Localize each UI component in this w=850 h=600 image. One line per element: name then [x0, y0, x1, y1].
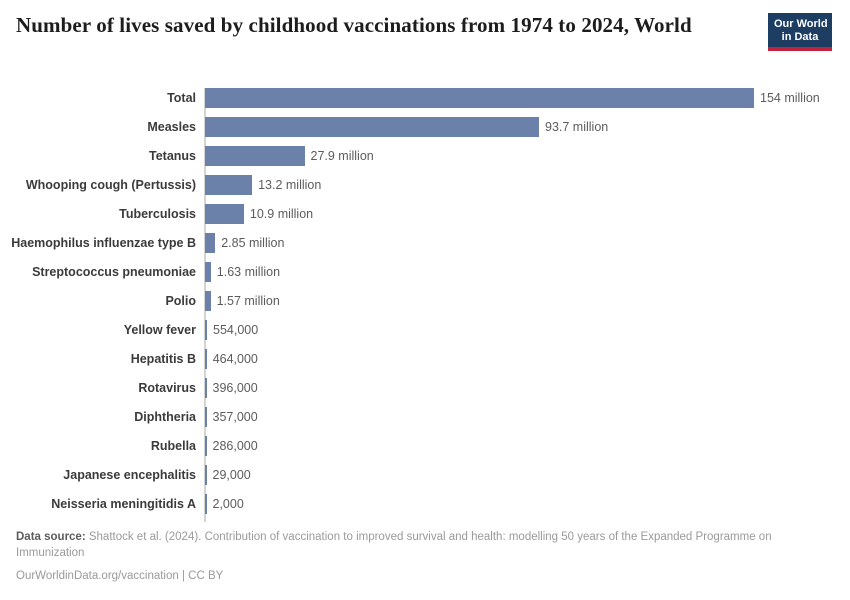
bar-rows: Total154 millionMeasles93.7 millionTetan…: [0, 88, 850, 523]
bar-category-label: Yellow fever: [124, 320, 196, 340]
bar-category-label: Polio: [165, 291, 196, 311]
bar[interactable]: [205, 378, 207, 398]
bar-row[interactable]: Streptococcus pneumoniae1.63 million: [0, 262, 850, 291]
bar-category-label: Measles: [147, 117, 196, 137]
bar-category-label: Japanese encephalitis: [63, 465, 196, 485]
bar-category-label: Tuberculosis: [119, 204, 196, 224]
bar[interactable]: [205, 233, 215, 253]
bar[interactable]: [205, 407, 207, 427]
chart-header: Number of lives saved by childhood vacci…: [0, 0, 850, 72]
bar-row[interactable]: Hepatitis B464,000: [0, 349, 850, 378]
bar[interactable]: [205, 204, 244, 224]
logo-line-1: Our World: [774, 18, 826, 31]
bar[interactable]: [205, 175, 252, 195]
bar-category-label: Rubella: [151, 436, 196, 456]
source-url-line[interactable]: OurWorldinData.org/vaccination | CC BY: [16, 569, 816, 585]
bar-category-label: Whooping cough (Pertussis): [26, 175, 196, 195]
bar-row[interactable]: Rubella286,000: [0, 436, 850, 465]
bar[interactable]: [205, 262, 211, 282]
bar[interactable]: [205, 436, 207, 456]
bar-value-label: 2,000: [213, 494, 244, 514]
bar-value-label: 464,000: [213, 349, 258, 369]
bar-value-label: 2.85 million: [221, 233, 284, 253]
bar-row[interactable]: Tuberculosis10.9 million: [0, 204, 850, 233]
bar-row[interactable]: Yellow fever554,000: [0, 320, 850, 349]
bar[interactable]: [205, 349, 207, 369]
bar-value-label: 357,000: [213, 407, 258, 427]
bar-value-label: 154 million: [760, 88, 820, 108]
bar-row[interactable]: Japanese encephalitis29,000: [0, 465, 850, 494]
bar-row[interactable]: Diphtheria357,000: [0, 407, 850, 436]
bar-value-label: 554,000: [213, 320, 258, 340]
logo-line-2: in Data: [774, 31, 826, 44]
page-title: Number of lives saved by childhood vacci…: [16, 12, 706, 38]
bar-value-label: 396,000: [213, 378, 258, 398]
bar-value-label: 1.63 million: [217, 262, 280, 282]
bar-row[interactable]: Tetanus27.9 million: [0, 146, 850, 175]
bar-value-label: 10.9 million: [250, 204, 313, 224]
bar-value-label: 286,000: [213, 436, 258, 456]
bar-category-label: Total: [167, 88, 196, 108]
bar-category-label: Streptococcus pneumoniae: [32, 262, 196, 282]
bar[interactable]: [205, 291, 211, 311]
bar-category-label: Tetanus: [149, 146, 196, 166]
bar-row[interactable]: Haemophilus influenzae type B2.85 millio…: [0, 233, 850, 262]
bar-value-label: 93.7 million: [545, 117, 608, 137]
bar[interactable]: [205, 88, 754, 108]
bar[interactable]: [205, 117, 539, 137]
owid-logo[interactable]: Our World in Data: [768, 13, 832, 51]
bar-row[interactable]: Total154 million: [0, 88, 850, 117]
bar-row[interactable]: Neisseria meningitidis A2,000: [0, 494, 850, 523]
bar-chart: Total154 millionMeasles93.7 millionTetan…: [0, 78, 850, 518]
bar-category-label: Neisseria meningitidis A: [51, 494, 196, 514]
bar-value-label: 29,000: [213, 465, 251, 485]
bar-category-label: Rotavirus: [138, 378, 196, 398]
bar[interactable]: [205, 465, 207, 485]
bar-category-label: Diphtheria: [134, 407, 196, 427]
chart-footer: Data source: Shattock et al. (2024). Con…: [16, 530, 816, 585]
bar-value-label: 27.9 million: [311, 146, 374, 166]
bar-row[interactable]: Whooping cough (Pertussis)13.2 million: [0, 175, 850, 204]
bar[interactable]: [205, 320, 207, 340]
bar-row[interactable]: Polio1.57 million: [0, 291, 850, 320]
data-source-line: Data source: Shattock et al. (2024). Con…: [16, 530, 786, 561]
bar[interactable]: [205, 494, 207, 514]
bar-category-label: Haemophilus influenzae type B: [11, 233, 196, 253]
bar-category-label: Hepatitis B: [131, 349, 196, 369]
bar-row[interactable]: Measles93.7 million: [0, 117, 850, 146]
data-source-label: Data source:: [16, 531, 86, 543]
bar-value-label: 13.2 million: [258, 175, 321, 195]
data-source-text: Shattock et al. (2024). Contribution of …: [16, 531, 772, 559]
bar[interactable]: [205, 146, 305, 166]
bar-row[interactable]: Rotavirus396,000: [0, 378, 850, 407]
bar-value-label: 1.57 million: [217, 291, 280, 311]
